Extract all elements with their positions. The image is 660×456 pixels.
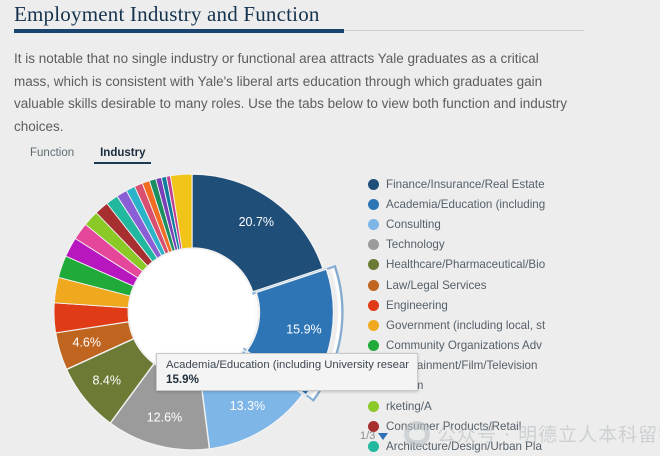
legend-color-swatch <box>368 280 379 291</box>
legend-item-label: Consulting <box>386 218 441 231</box>
chart-tooltip: Academia/Education (including University… <box>156 353 418 391</box>
legend-item-label: Law/Legal Services <box>386 279 487 292</box>
page-title: Employment Industry and Function <box>14 2 320 27</box>
legend-item[interactable]: Finance/Insurance/Real Estate <box>368 174 660 194</box>
legend-item[interactable]: Healthcare/Pharmaceutical/Bio <box>368 255 660 275</box>
legend-item-label: Healthcare/Pharmaceutical/Bio <box>386 258 545 271</box>
legend-item[interactable]: Consulting <box>368 214 660 234</box>
slide-root: Employment Industry and Function It is n… <box>0 0 660 456</box>
legend-item[interactable]: Technology <box>368 235 660 255</box>
chart-tabs: Function Industry <box>24 145 151 164</box>
legend-item-label: Government (including local, st <box>386 319 545 332</box>
donut-chart-svg[interactable]: 20.7%15.9%13.3%12.6%8.4%4.6% <box>22 168 362 456</box>
legend-color-swatch <box>368 300 379 311</box>
watermark-text: 公众号 · 明德立人本科留学 <box>437 420 660 447</box>
pager-label: 1/3 <box>360 430 375 442</box>
intro-paragraph: It is notable that no single industry or… <box>14 48 574 138</box>
legend-color-swatch <box>368 219 379 230</box>
pager[interactable]: 1/3 <box>360 430 388 442</box>
donut-slice-label: 12.6% <box>147 411 182 425</box>
legend-item-label: Community Organizations Adv <box>386 339 542 352</box>
tab-function[interactable]: Function <box>24 145 80 164</box>
title-underline-rule-faint <box>344 30 584 31</box>
tab-industry[interactable]: Industry <box>94 145 151 164</box>
legend-item[interactable]: Law/Legal Services <box>368 275 660 295</box>
chart-area: 20.7%15.9%13.3%12.6%8.4%4.6% Finance/Ins… <box>0 168 660 456</box>
legend-item-label: Finance/Insurance/Real Estate <box>386 178 545 191</box>
chevron-down-icon[interactable] <box>378 433 388 440</box>
donut-slice-label: 8.4% <box>92 374 121 388</box>
donut-slice-label: 4.6% <box>72 336 101 350</box>
legend-color-swatch <box>368 199 379 210</box>
legend-item[interactable]: Engineering <box>368 295 660 315</box>
legend-item[interactable]: rketing/A <box>368 396 660 416</box>
donut-chart[interactable]: 20.7%15.9%13.3%12.6%8.4%4.6% <box>22 168 362 456</box>
title-underline-rule <box>14 29 344 33</box>
legend-color-swatch <box>368 320 379 331</box>
legend-color-swatch <box>368 340 379 351</box>
tooltip-value: 15.9% <box>166 373 409 386</box>
legend-item-label: rketing/A <box>386 400 432 413</box>
legend-color-swatch <box>368 441 379 452</box>
legend-color-swatch <box>368 239 379 250</box>
donut-slice-label: 20.7% <box>239 215 274 229</box>
legend-item-label: Academia/Education (including <box>386 198 545 211</box>
donut-slice-label: 15.9% <box>286 322 321 336</box>
legend-item-label: Technology <box>386 238 445 251</box>
legend-color-swatch <box>368 401 379 412</box>
chart-legend: Finance/Insurance/Real EstateAcademia/Ed… <box>368 174 660 456</box>
donut-slice-label: 13.3% <box>230 399 265 413</box>
legend-color-swatch <box>368 259 379 270</box>
legend-item-label: Engineering <box>386 299 448 312</box>
legend-color-swatch <box>368 179 379 190</box>
tooltip-title: Academia/Education (including University… <box>166 359 409 371</box>
wechat-icon <box>404 421 430 447</box>
legend-item[interactable]: Government (including local, st <box>368 315 660 335</box>
watermark: 公众号 · 明德立人本科留学 <box>404 420 660 447</box>
legend-item[interactable]: Academia/Education (including <box>368 194 660 214</box>
